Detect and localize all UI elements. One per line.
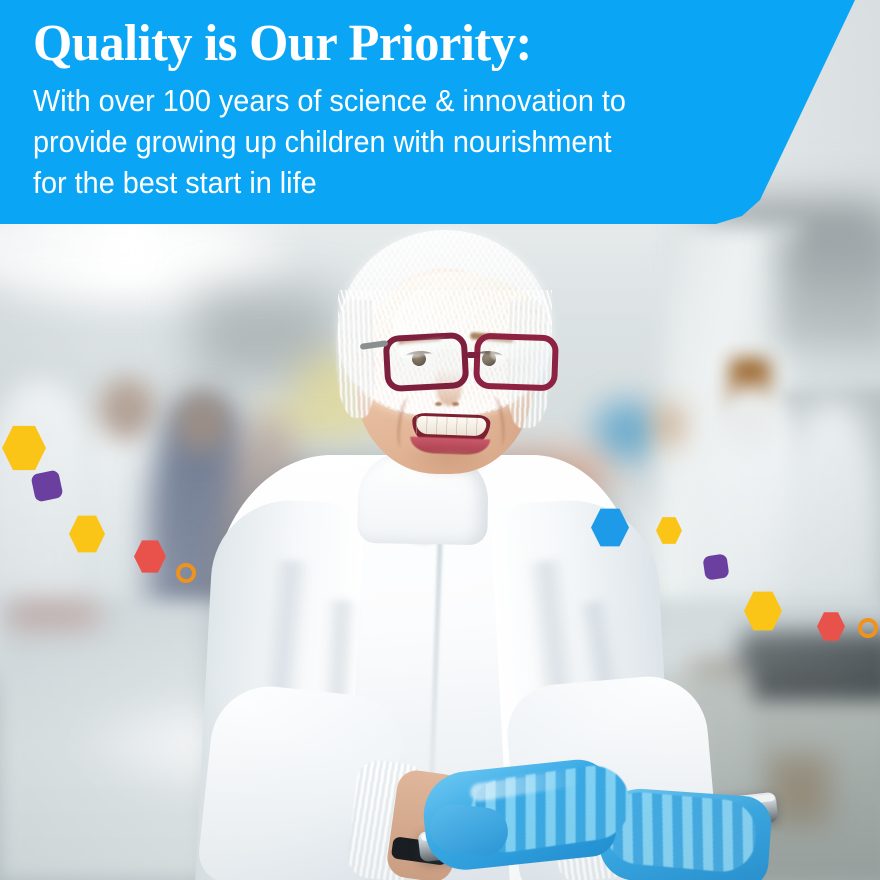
chin-shadow [406, 452, 492, 478]
banner-subtitle-line-2: provide growing up children with nourish… [33, 121, 740, 162]
square-purple-right [702, 553, 729, 580]
header-banner: Quality is Our Priority: With over 100 y… [0, 0, 880, 224]
square-purple-left [30, 469, 63, 502]
banner-subtitle-line-3: for the best start in life [33, 162, 740, 203]
nostril-right [452, 402, 459, 406]
nostril-left [435, 402, 442, 406]
eyeglass-bridge [466, 352, 480, 358]
hairnet-ruffle-left [336, 300, 374, 418]
banner-subtitle: With over 100 years of science & innovat… [33, 80, 740, 204]
eyeglasses [378, 326, 584, 398]
ring-orange-left [176, 563, 196, 583]
ring-orange-right [858, 618, 878, 638]
page-title: Quality is Our Priority: [33, 18, 770, 70]
eyeglass-lens-right [473, 333, 559, 392]
banner-text-block: Quality is Our Priority: With over 100 y… [33, 18, 793, 204]
promotional-banner-image: Quality is Our Priority: With over 100 y… [0, 0, 880, 880]
teeth-separations [416, 416, 487, 436]
banner-subtitle-line-1: With over 100 years of science & innovat… [33, 80, 740, 121]
